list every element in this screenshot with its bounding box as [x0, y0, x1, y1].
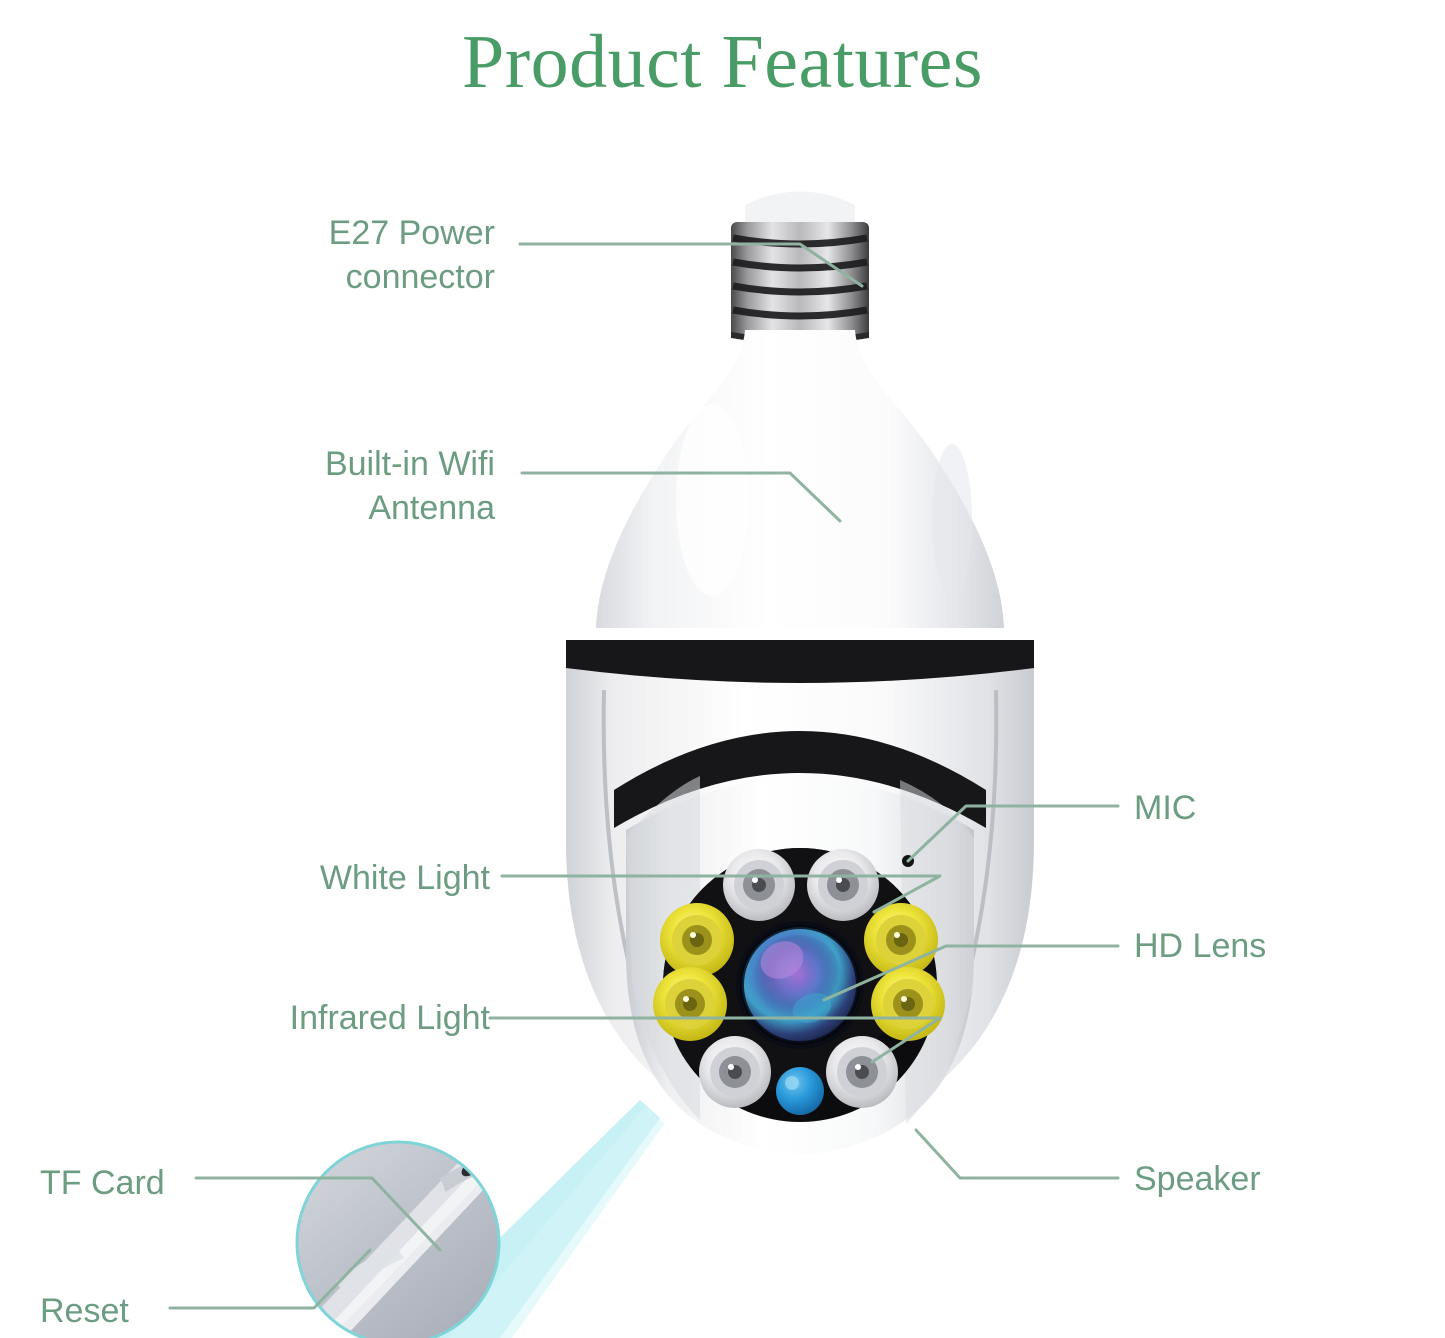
callout-label-built-in-wifi-antenna: Built-in Wifi Antenna — [150, 443, 495, 530]
e27-screw-base — [731, 222, 869, 344]
hd-lens — [736, 921, 864, 1049]
led-infrared — [653, 967, 727, 1041]
bulb-assembly — [596, 192, 1004, 629]
callout-label-infrared-light: Infrared Light — [140, 997, 490, 1041]
led-infrared — [660, 903, 734, 977]
led-infrared — [871, 967, 945, 1041]
led-white — [723, 849, 795, 921]
product-illustration — [0, 0, 1445, 1338]
detail-inset-circle — [297, 1142, 500, 1338]
callout-label-e27-power-connector: E27 Power connector — [150, 212, 495, 299]
light-sensor — [776, 1067, 824, 1115]
leader-speaker — [916, 1130, 1118, 1178]
led-white — [826, 1036, 898, 1108]
callout-label-reset: Reset — [40, 1290, 200, 1334]
led-white — [807, 849, 879, 921]
callout-label-white-light: White Light — [140, 857, 490, 901]
callout-label-hd-lens: HD Lens — [1134, 925, 1434, 969]
callout-label-speaker: Speaker — [1134, 1158, 1434, 1202]
led-white — [699, 1036, 771, 1108]
product-feature-diagram: Product Features — [0, 0, 1445, 1338]
callout-label-mic: MIC — [1134, 787, 1434, 831]
callout-label-tf-card: TF Card — [40, 1162, 200, 1206]
